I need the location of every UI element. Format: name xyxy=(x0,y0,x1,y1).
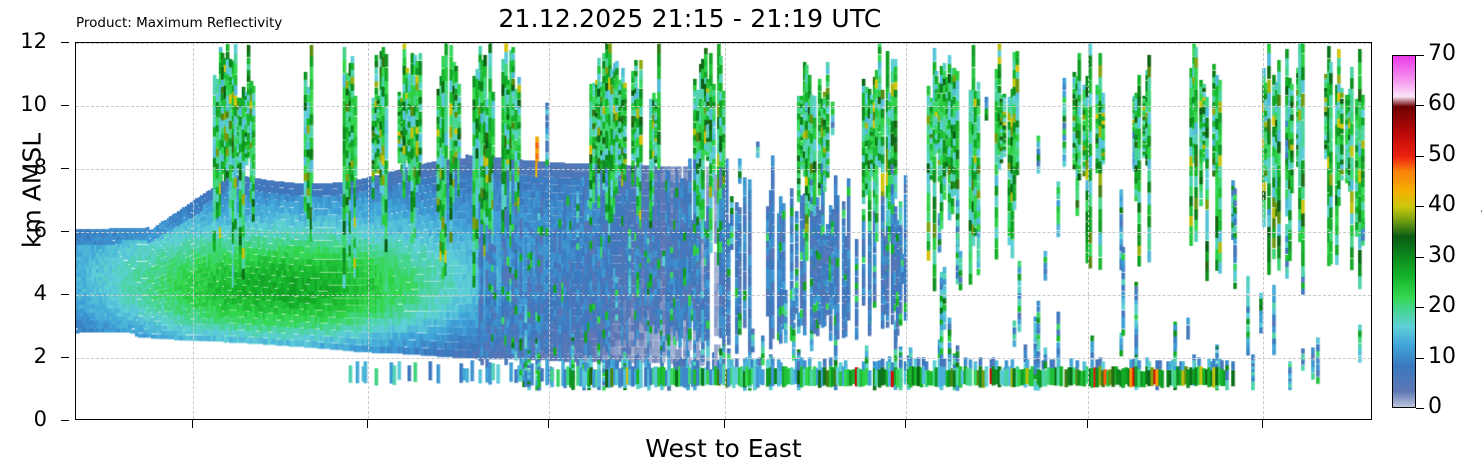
y-tick-label: 2 xyxy=(34,344,47,368)
y-tick-mark xyxy=(61,42,69,43)
colorbar-tick-label: 50 xyxy=(1428,142,1456,167)
y-tick-mark xyxy=(61,231,69,232)
colorbar-tick-mark xyxy=(1416,55,1424,56)
colorbar-tick-label: 70 xyxy=(1428,41,1456,66)
y-tick-mark xyxy=(61,294,69,295)
radar-cross-section-figure: 21.12.2025 21:15 - 21:19 UTC Product: Ma… xyxy=(0,0,1482,470)
x-axis-label: West to East xyxy=(75,434,1372,463)
colorbar-tick-label: 60 xyxy=(1428,91,1456,116)
colorbar: 010203040506070 xyxy=(1392,55,1416,408)
y-tick-mark xyxy=(61,168,69,169)
plot-area xyxy=(75,42,1372,420)
colorbar-tick-mark xyxy=(1416,257,1424,258)
y-tick-label: 4 xyxy=(34,281,47,305)
x-axis-tick xyxy=(1087,420,1088,428)
x-axis-tick xyxy=(548,420,549,428)
x-axis-tick xyxy=(367,420,368,428)
x-axis-tick xyxy=(192,420,193,428)
colorbar-tick-label: 0 xyxy=(1428,394,1442,419)
colorbar-tick-label: 20 xyxy=(1428,293,1456,318)
colorbar-tick-mark xyxy=(1416,408,1424,409)
x-axis-tick xyxy=(724,420,725,428)
y-tick-label: 8 xyxy=(34,155,47,179)
colorbar-tick-label: 40 xyxy=(1428,192,1456,217)
product-label: Product: Maximum Reflectivity xyxy=(76,15,282,31)
y-tick-label: 6 xyxy=(34,218,47,242)
colorbar-tick-mark xyxy=(1416,105,1424,106)
y-tick-label: 12 xyxy=(20,29,47,53)
y-tick-label: 10 xyxy=(20,92,47,116)
colorbar-canvas xyxy=(1393,56,1415,407)
x-axis-tick xyxy=(905,420,906,428)
colorbar-tick-label: 30 xyxy=(1428,243,1456,268)
y-tick-mark xyxy=(61,105,69,106)
reflectivity-heatmap xyxy=(76,43,1371,419)
colorbar-tick-mark xyxy=(1416,358,1424,359)
y-tick-mark xyxy=(61,357,69,358)
colorbar-label: dBZ xyxy=(1478,139,1482,259)
x-axis-tick xyxy=(1262,420,1263,428)
colorbar-tick-label: 10 xyxy=(1428,344,1456,369)
y-tick-label: 0 xyxy=(34,407,47,431)
colorbar-tick-mark xyxy=(1416,156,1424,157)
colorbar-tick-mark xyxy=(1416,307,1424,308)
colorbar-gradient xyxy=(1392,55,1416,408)
y-tick-mark xyxy=(61,420,69,421)
colorbar-tick-mark xyxy=(1416,206,1424,207)
heatmap-canvas xyxy=(76,43,1371,419)
